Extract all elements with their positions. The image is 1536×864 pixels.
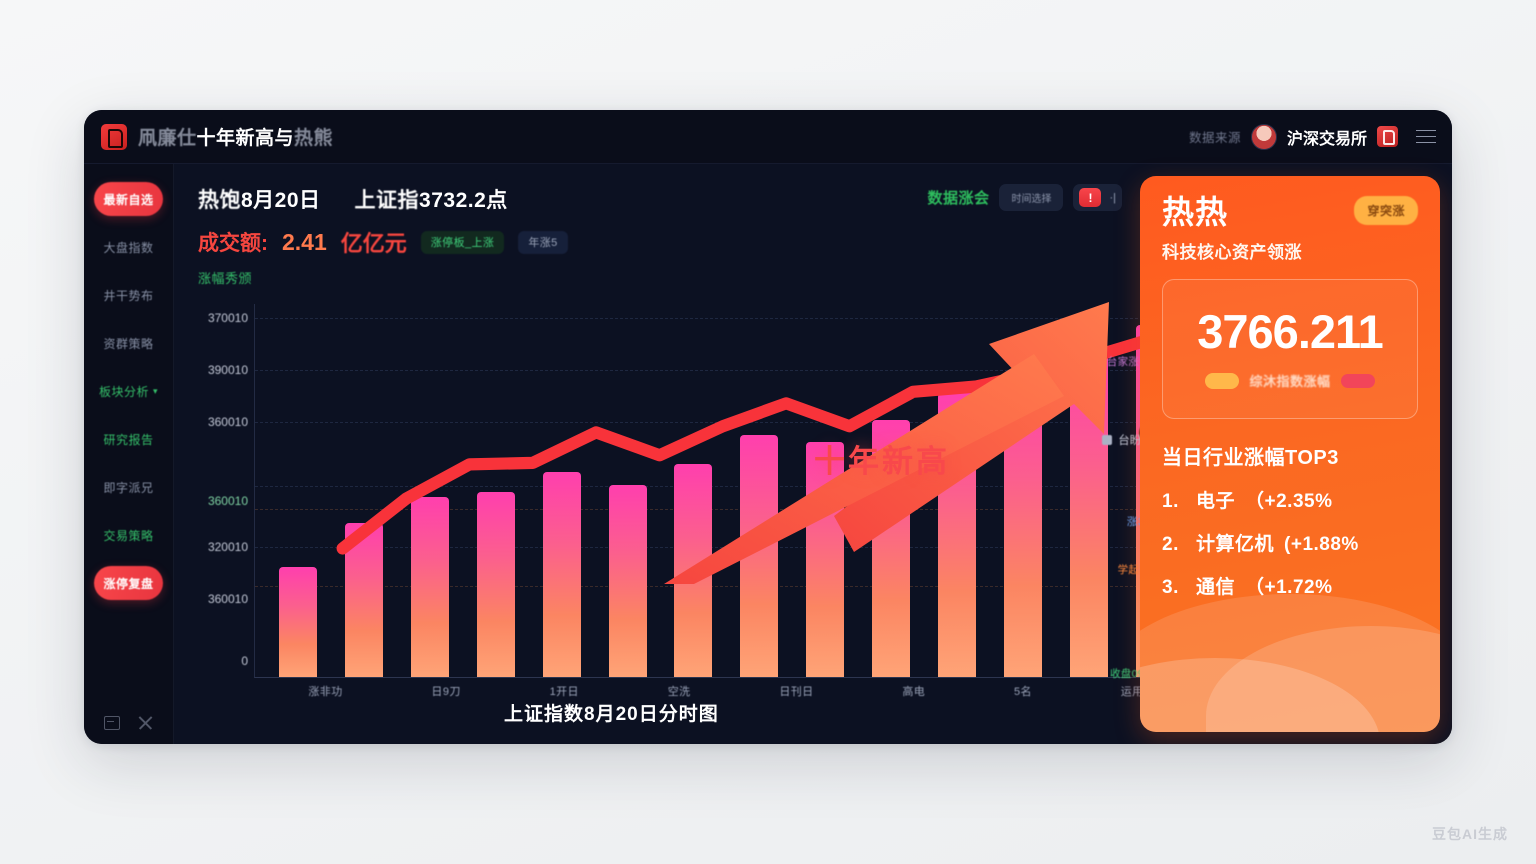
- date-value: 8月20日: [241, 189, 321, 212]
- top3-rank: 3.: [1162, 577, 1186, 599]
- x-tick-5: 高电: [902, 683, 925, 699]
- window-icon[interactable]: [104, 716, 120, 730]
- chevron-down-icon: ▾: [153, 386, 158, 397]
- x-tick-1: 日9刀: [431, 683, 460, 699]
- sidebar-item-5[interactable]: 研究报告: [94, 422, 163, 456]
- x-tick-0: 涨非功: [308, 683, 342, 699]
- index-value-box: 3766.211 综沐指数涨幅: [1162, 279, 1418, 419]
- sidebar-item-label: 涨停复盘: [103, 575, 153, 592]
- top3-item-0: 1. 电子 （+2.35%: [1162, 486, 1418, 513]
- top3-rank: 2.: [1162, 534, 1186, 556]
- y-tick-0: 370010: [208, 311, 248, 325]
- sidebar-item-8[interactable]: 涨停复盘: [94, 566, 163, 600]
- yellow-pill-icon: [1205, 373, 1239, 389]
- x-axis: 涨非功日9刀1开日空洗日刊日高电5名运用: [254, 678, 1198, 704]
- legend-swatch-icon: [1102, 435, 1112, 445]
- alert-icon[interactable]: [1079, 188, 1101, 207]
- top3-title: 当日行业涨幅TOP3: [1162, 441, 1418, 470]
- y-axis: 370010 390010 360010 360010 320010 36001…: [198, 304, 254, 704]
- sidebar-item-7[interactable]: 交易策略: [94, 518, 163, 552]
- top3-change: （+2.35%: [1245, 486, 1332, 513]
- sidebar-item-6[interactable]: 即字派兄: [94, 470, 163, 504]
- account-name: 沪深交易所: [1287, 125, 1367, 149]
- time-range-selector[interactable]: 时间选择: [999, 184, 1063, 211]
- top3-change: (+1.88%: [1284, 534, 1359, 556]
- top3-name: 通信: [1196, 572, 1235, 599]
- data-source-label: 数据来源: [1189, 127, 1241, 146]
- sidebar-item-2[interactable]: 井干势布: [94, 278, 163, 312]
- x-tick-6: 5名: [1014, 683, 1032, 699]
- close-icon[interactable]: [138, 716, 154, 730]
- turnover-unit: 亿亿元: [341, 226, 407, 258]
- y-tick-1: 390010: [208, 363, 248, 377]
- time-range-label: 时间选择: [1005, 188, 1057, 207]
- title-bar: 凧廉仕十年新高与热熊 数据来源 沪深交易所: [84, 110, 1452, 164]
- sidebar-item-0[interactable]: 最新自选: [94, 182, 163, 216]
- x-tick-3: 空洗: [668, 683, 691, 699]
- x-tick-4: 日刊日: [779, 683, 813, 699]
- card-content: 热热 穿突涨 科技核心资产领涨 3766.211 综沐指数涨幅 当日行业涨幅TO…: [1140, 176, 1440, 732]
- top3-change: （+1.72%: [1245, 572, 1332, 599]
- card-subtitle: 科技核心资产领涨: [1162, 238, 1418, 263]
- chip-green[interactable]: 涨停板_上涨: [421, 231, 505, 254]
- chip-gray[interactable]: 年涨5: [518, 231, 567, 254]
- titlebar-right-group: 数据来源 沪深交易所: [1189, 124, 1452, 150]
- y-tick-2: 360010: [208, 415, 248, 429]
- sidebar-item-label: 最新自选: [103, 191, 153, 208]
- top3-rank: 1.: [1162, 491, 1186, 513]
- sidebar-item-label: 大盘指数: [103, 239, 153, 256]
- y-tick-4: 320010: [208, 540, 248, 554]
- date-prefix: 热饱: [198, 189, 241, 212]
- alert-group[interactable]: ·|: [1073, 184, 1122, 211]
- index-points: 3732.2点: [419, 189, 508, 212]
- toolbar-green-label: 数据涨会: [927, 187, 989, 208]
- sidebar-item-label: 板块分析: [99, 383, 149, 400]
- red-pill-icon: [1341, 374, 1375, 388]
- index-label: 上证指: [355, 189, 420, 212]
- app-title-suffix: 热熊: [294, 128, 333, 149]
- main-chart: 370010 390010 360010 360010 320010 36001…: [198, 304, 1198, 704]
- app-title: 凧廉仕十年新高与热熊: [138, 123, 333, 150]
- y-tick-3: 360010: [208, 494, 248, 508]
- watermark: 豆包AI生成: [1432, 824, 1508, 844]
- sidebar-item-label: 即字派兄: [103, 479, 153, 496]
- sidebar-bottom-icons: [84, 716, 173, 730]
- top3-name: 电子: [1196, 486, 1235, 513]
- sidebar-item-3[interactable]: 资群策略: [94, 326, 163, 360]
- app-logo-icon: [101, 124, 127, 150]
- chart-caption: 上证指数8月20日分时图: [504, 699, 719, 726]
- sidebar-item-label: 井干势布: [103, 287, 153, 304]
- index-value: 3766.211: [1197, 308, 1382, 355]
- avatar[interactable]: [1251, 124, 1277, 150]
- y-tick-5: 360010: [208, 592, 248, 606]
- alert-label: ·|: [1109, 192, 1116, 204]
- index-note: 综沐指数涨幅: [1249, 371, 1330, 390]
- top3-item-1: 2. 计算亿机 (+1.88%: [1162, 529, 1418, 556]
- sidebar-item-1[interactable]: 大盘指数: [94, 230, 163, 264]
- app-title-main: 十年新高与: [197, 128, 295, 149]
- turnover-value: 2.41: [282, 229, 327, 256]
- chart-annotation: 十年新高: [814, 436, 950, 481]
- y-tick-6: 0: [241, 654, 248, 668]
- index-meta-row: 综沐指数涨幅: [1205, 371, 1374, 390]
- index-group: 上证指3732.2点: [355, 184, 508, 214]
- sidebar-item-label: 资群策略: [103, 335, 153, 352]
- hamburger-icon[interactable]: [1416, 130, 1436, 144]
- content-area: 热饱8月20日 上证指3732.2点 成交额: 2.41 亿亿元 涨停板_上涨 …: [174, 164, 1452, 744]
- sidebar-item-label: 研究报告: [103, 431, 153, 448]
- date-group: 热饱8月20日: [198, 184, 321, 214]
- chart-toolbar: 数据涨会 时间选择 ·|: [927, 184, 1122, 211]
- card-badge[interactable]: 穿突涨: [1354, 196, 1418, 225]
- sidebar-item-4[interactable]: 板块分析▾: [94, 374, 163, 408]
- sidebar: 最新自选 大盘指数 井干势布 资群策略 板块分析▾ 研究报告 即字派兄 交易策略…: [84, 164, 174, 744]
- sidebar-item-label: 交易策略: [103, 527, 153, 544]
- app-badge-icon[interactable]: [1377, 126, 1398, 147]
- turnover-label: 成交额:: [198, 227, 268, 257]
- dashboard-window: 凧廉仕十年新高与热熊 数据来源 沪深交易所 最新自选 大盘指数 井干势布 资群策…: [84, 110, 1452, 744]
- app-title-prefix: 凧廉仕: [138, 128, 197, 149]
- card-title: 热热: [1162, 196, 1228, 228]
- highlight-card: 热热 穿突涨 科技核心资产领涨 3766.211 综沐指数涨幅 当日行业涨幅TO…: [1140, 176, 1440, 732]
- trend-line: [311, 304, 1198, 655]
- top3-item-2: 3. 通信 （+1.72%: [1162, 572, 1418, 599]
- top3-name: 计算亿机: [1196, 529, 1274, 556]
- page-root: 凧廉仕十年新高与热熊 数据来源 沪深交易所 最新自选 大盘指数 井干势布 资群策…: [0, 0, 1536, 864]
- plot-area: [254, 304, 1198, 678]
- x-tick-2: 1开日: [550, 683, 579, 699]
- card-header: 热热 穿突涨: [1162, 196, 1418, 228]
